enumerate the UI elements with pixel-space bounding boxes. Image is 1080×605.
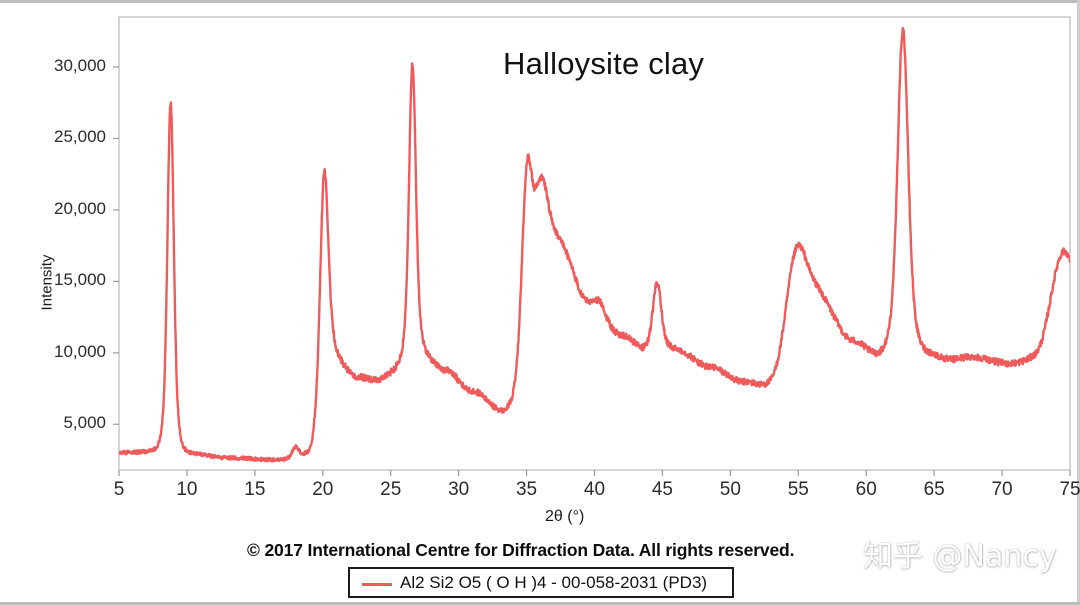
x-tick-label: 30 (429, 479, 489, 501)
legend[interactable]: Al2 Si2 O5 ( O H )4 - 00-058-2031 (PD3) (348, 567, 734, 598)
legend-series-label: Al2 Si2 O5 ( O H )4 - 00-058-2031 (PD3) (400, 573, 707, 593)
x-tick-label: 15 (225, 479, 285, 501)
x-tick-label: 50 (700, 479, 760, 501)
y-tick-label: 5,000 (14, 413, 106, 433)
y-tick-label: 20,000 (14, 199, 106, 219)
x-tick-label: 65 (904, 479, 964, 501)
legend-color-swatch (362, 583, 392, 586)
xrd-figure: Halloysite clay Intensity 2θ (°) © 2017 … (0, 0, 1080, 605)
x-tick-label: 10 (157, 479, 217, 501)
x-tick-label: 60 (836, 479, 896, 501)
x-tick-label: 40 (565, 479, 625, 501)
y-tick-label: 10,000 (14, 342, 106, 362)
x-tick-label: 25 (361, 479, 421, 501)
chart-title: Halloysite clay (503, 46, 704, 82)
x-tick-label: 55 (768, 479, 828, 501)
x-axis-title: 2θ (°) (545, 508, 584, 526)
y-tick-label: 15,000 (14, 270, 106, 290)
x-tick-label: 35 (497, 479, 557, 501)
y-tick-label: 25,000 (14, 127, 106, 147)
x-tick-label: 70 (972, 479, 1032, 501)
diffractogram-plot (0, 0, 1080, 605)
x-tick-label: 75 (1040, 479, 1080, 501)
x-tick-label: 45 (632, 479, 692, 501)
x-tick-label: 5 (89, 479, 149, 501)
y-tick-label: 30,000 (14, 56, 106, 76)
copyright-notice: © 2017 International Centre for Diffract… (247, 540, 794, 561)
x-tick-label: 20 (293, 479, 353, 501)
